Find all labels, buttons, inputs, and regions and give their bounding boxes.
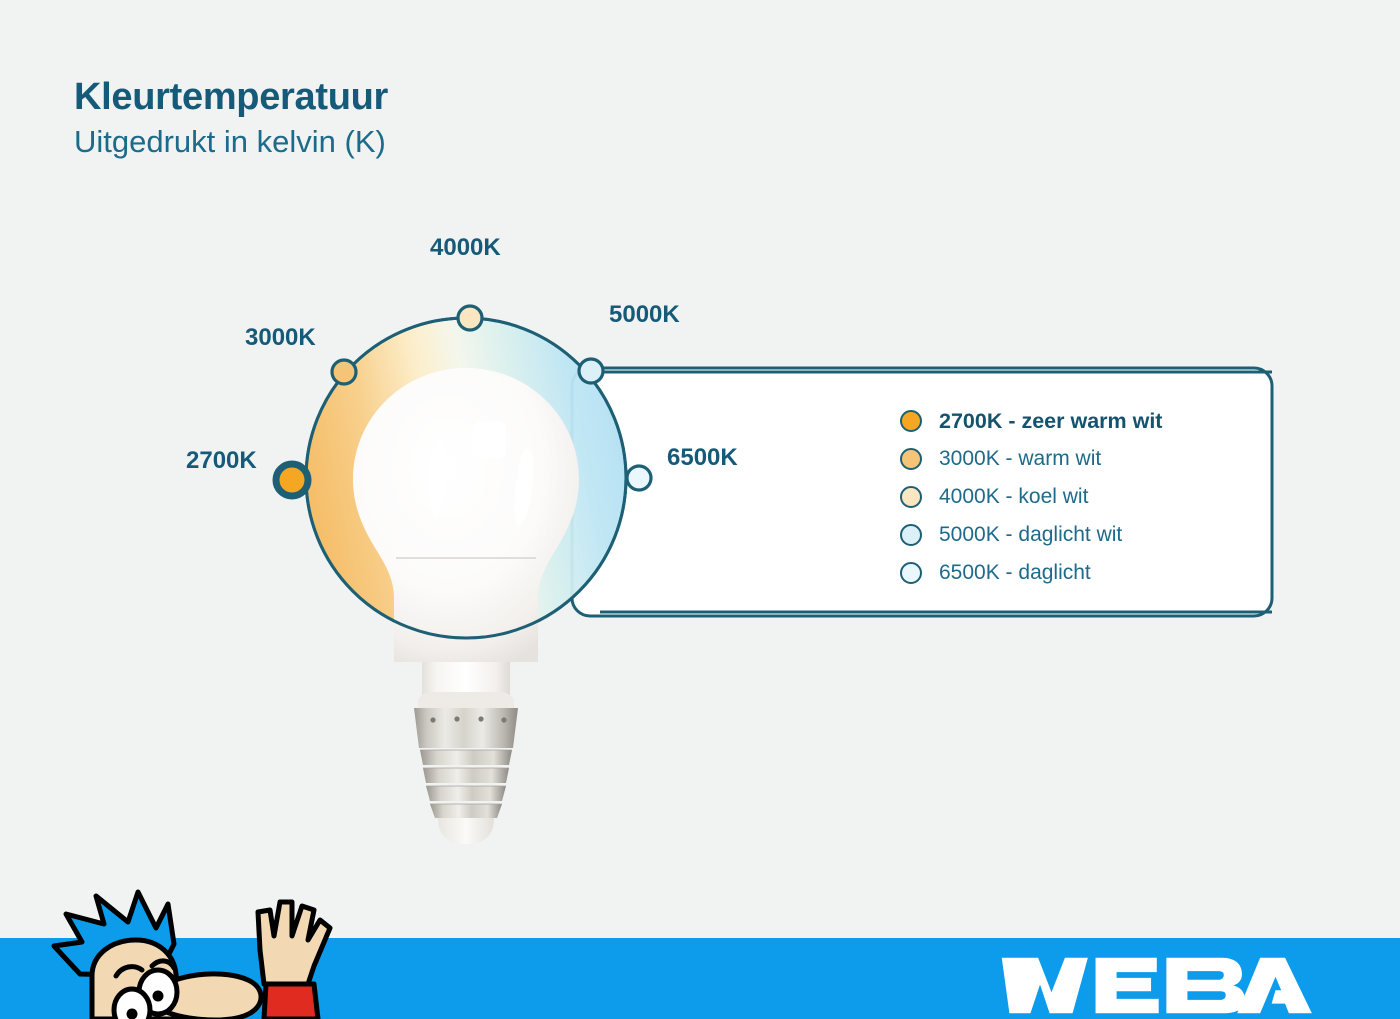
legend-swatch-icon: [900, 486, 922, 508]
dial-marker-3000[interactable]: [332, 360, 356, 384]
legend-swatch-icon: [900, 410, 922, 432]
legend-item-6500k[interactable]: 6500K - daglicht: [900, 554, 1260, 592]
legend-swatch-icon: [900, 448, 922, 470]
mascot-character-icon: [8, 888, 358, 1019]
legend-swatch-icon: [900, 562, 922, 584]
legend-item-label: 4000K - koel wit: [939, 485, 1088, 509]
dial-label-6500: 6500K: [667, 444, 738, 471]
legend-item-label: 6500K - daglicht: [939, 561, 1091, 585]
legend-item-2700k[interactable]: 2700K - zeer warm wit: [900, 402, 1260, 440]
legend-item-label: 5000K - daglicht wit: [939, 523, 1122, 547]
legend-item-4000k[interactable]: 4000K - koel wit: [900, 478, 1260, 516]
dial-label-2700: 2700K: [186, 447, 257, 474]
dial-label-3000: 3000K: [245, 324, 316, 351]
dial-label-5000: 5000K: [609, 301, 680, 328]
legend-item-label: 2700K - zeer warm wit: [939, 409, 1162, 434]
dial-marker-6500[interactable]: [627, 466, 651, 490]
legend-item-label: 3000K - warm wit: [939, 447, 1101, 471]
dial-label-4000: 4000K: [430, 234, 501, 261]
legend-item-5000k[interactable]: 5000K - daglicht wit: [900, 516, 1260, 554]
dial-marker-2700-selected[interactable]: [276, 464, 308, 496]
legend-list: 2700K - zeer warm wit3000K - warm wit400…: [900, 402, 1260, 592]
legend-item-3000k[interactable]: 3000K - warm wit: [900, 440, 1260, 478]
weba-logo-icon: [996, 952, 1312, 1019]
dial-marker-4000[interactable]: [458, 306, 482, 330]
dial-marker-5000[interactable]: [579, 359, 603, 383]
legend-swatch-icon: [900, 524, 922, 546]
